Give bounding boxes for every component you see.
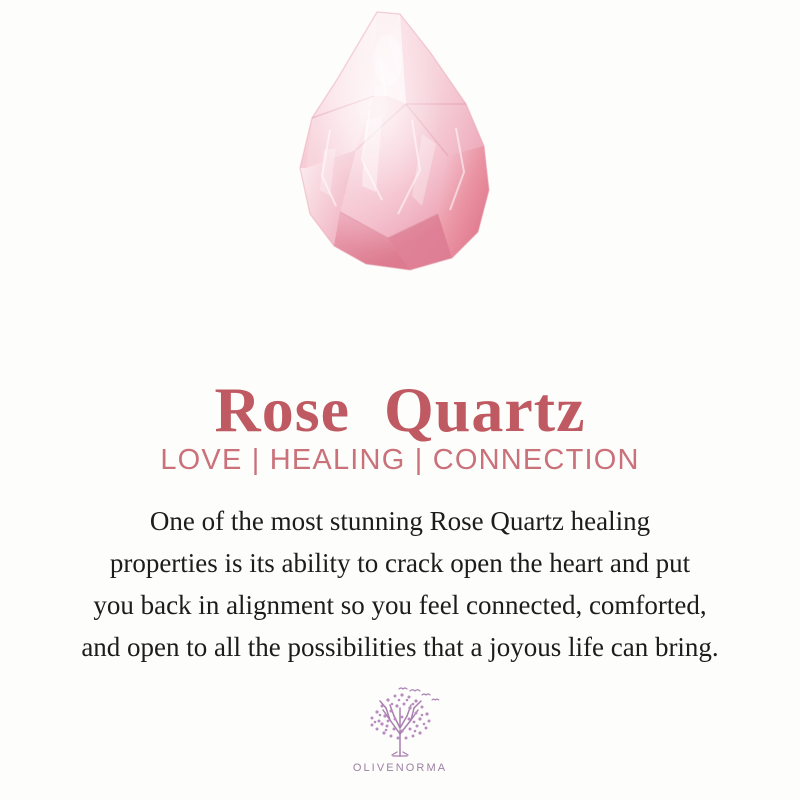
description-line: properties is its ability to crack open … [40, 542, 760, 584]
brand-logo: OLIVENORMA [0, 686, 800, 774]
tree-of-life-icon [352, 686, 448, 760]
description-text: One of the most stunning Rose Quartz hea… [40, 500, 760, 668]
rose-quartz-crystal-icon [270, 0, 530, 300]
hero-image [0, 0, 800, 300]
keyword-tagline: LOVE | HEALING | CONNECTION [0, 445, 800, 477]
description-line: One of the most stunning Rose Quartz hea… [40, 500, 760, 542]
description-line: and open to all the possibilities that a… [40, 626, 760, 668]
description-line: you back in alignment so you feel connec… [40, 584, 760, 626]
poster-canvas: Rose Quartz LOVE | HEALING | CONNECTION … [0, 0, 800, 800]
brand-name: OLIVENORMA [353, 762, 447, 774]
page-title: Rose Quartz [0, 376, 800, 443]
